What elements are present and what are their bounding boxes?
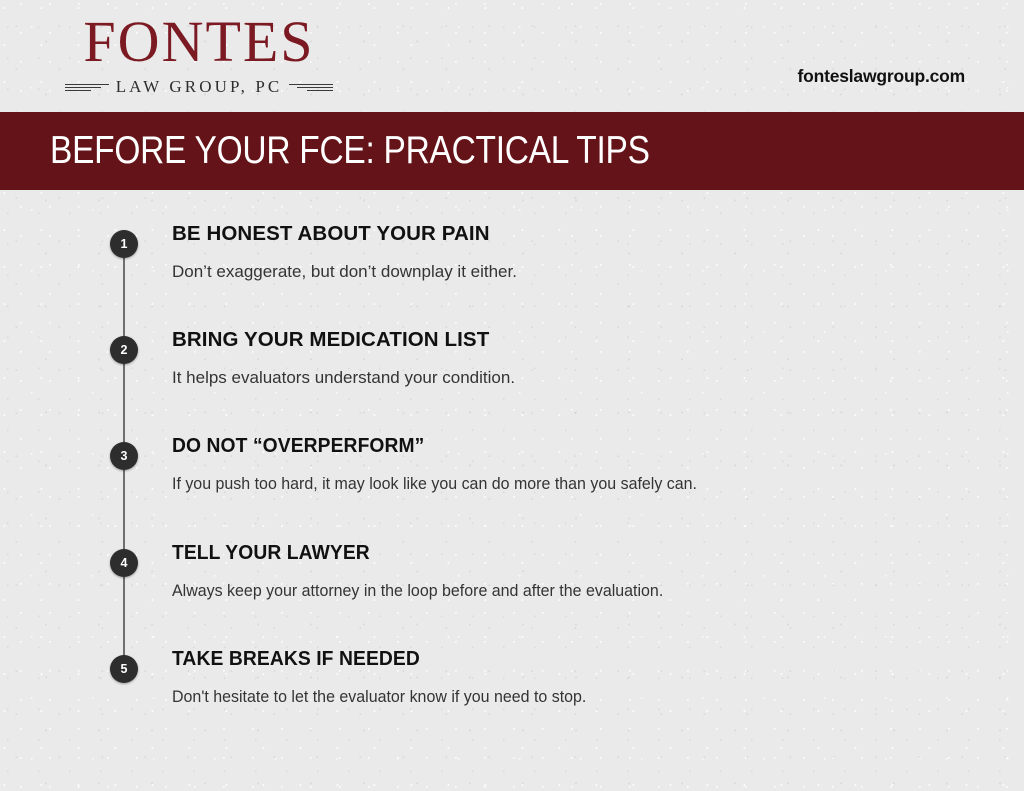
step-number-badge: 2	[110, 336, 138, 364]
list-item: 2 BRING YOUR MEDICATION LIST It helps ev…	[0, 336, 1024, 442]
tip-heading: DO NOT “OVERPERFORM”	[172, 434, 933, 458]
title-banner: BEFORE YOUR FCE: PRACTICAL TIPS	[0, 112, 1024, 190]
tip-heading: BRING YOUR MEDICATION LIST	[172, 328, 982, 352]
tip-description: If you push too hard, it may look like y…	[172, 474, 933, 494]
step-number-badge: 4	[110, 549, 138, 577]
logo-rule-right-icon	[289, 83, 333, 92]
page-header: FONTES LAW GROUP, PC fonteslawgroup.com	[0, 0, 1024, 112]
list-item: 3 DO NOT “OVERPERFORM” If you push too h…	[0, 442, 1024, 548]
tip-content: DO NOT “OVERPERFORM” If you push too har…	[172, 434, 982, 494]
step-number-badge: 5	[110, 655, 138, 683]
logo-subtitle-row: LAW GROUP, PC	[59, 77, 339, 97]
logo-subtitle: LAW GROUP, PC	[116, 77, 283, 97]
tip-description: Don’t exaggerate, but don’t downplay it …	[172, 262, 982, 282]
tip-content: BRING YOUR MEDICATION LIST It helps eval…	[172, 328, 982, 388]
list-item: 1 BE HONEST ABOUT YOUR PAIN Don’t exagge…	[0, 230, 1024, 336]
tip-heading: TAKE BREAKS IF NEEDED	[172, 647, 933, 671]
tip-description: Don't hesitate to let the evaluator know…	[172, 687, 933, 707]
tip-content: TAKE BREAKS IF NEEDED Don't hesitate to …	[172, 647, 982, 707]
step-number-badge: 1	[110, 230, 138, 258]
list-item: 5 TAKE BREAKS IF NEEDED Don't hesitate t…	[0, 655, 1024, 761]
tip-heading: BE HONEST ABOUT YOUR PAIN	[172, 222, 982, 246]
logo-rule-left-icon	[65, 83, 109, 92]
step-number-badge: 3	[110, 442, 138, 470]
tip-content: TELL YOUR LAWYER Always keep your attorn…	[172, 541, 982, 601]
tip-description: Always keep your attorney in the loop be…	[172, 581, 933, 601]
infographic-poster: FONTES LAW GROUP, PC fonteslawgroup.com …	[0, 0, 1024, 791]
tip-content: BE HONEST ABOUT YOUR PAIN Don’t exaggera…	[172, 222, 982, 282]
page-title: BEFORE YOUR FCE: PRACTICAL TIPS	[50, 129, 650, 173]
tip-description: It helps evaluators understand your cond…	[172, 368, 982, 388]
tips-timeline: 1 BE HONEST ABOUT YOUR PAIN Don’t exagge…	[0, 190, 1024, 791]
list-item: 4 TELL YOUR LAWYER Always keep your atto…	[0, 549, 1024, 655]
tip-heading: TELL YOUR LAWYER	[172, 541, 933, 565]
firm-logo: FONTES LAW GROUP, PC	[59, 14, 339, 97]
logo-wordmark: FONTES	[59, 14, 339, 70]
website-url[interactable]: fonteslawgroup.com	[797, 66, 965, 87]
